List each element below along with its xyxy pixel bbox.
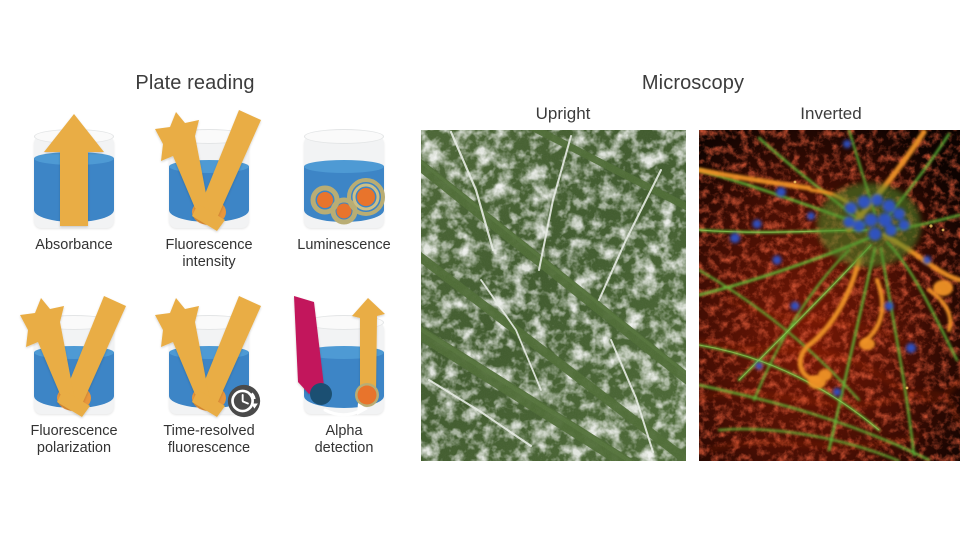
leaf-venation-image — [421, 130, 686, 461]
assay-alpha-detection[interactable]: Alpha detection — [278, 294, 410, 469]
clock-icon — [225, 382, 263, 420]
assay-label-fluorescence-intensity: Fluorescence intensity — [137, 237, 281, 271]
label-line: Fluorescence — [2, 423, 146, 440]
fluorescence-intensity-icon — [143, 108, 275, 236]
plate-reading-grid: Absorbance — [0, 108, 412, 468]
donor-bead-icon — [310, 383, 332, 405]
acceptor-bead-icon — [358, 386, 377, 405]
micrograph-inverted[interactable] — [699, 130, 960, 461]
assay-fluorescence-intensity[interactable]: Fluorescence intensity — [143, 108, 275, 283]
assay-time-resolved-fluorescence[interactable]: Time-resolved fluorescence — [143, 294, 275, 469]
up-arrow-icon — [8, 108, 140, 236]
microscopy-panel-label-upright: Upright — [448, 104, 678, 124]
label-line: Fluorescence — [137, 237, 281, 254]
fluorescence-polarization-icon — [8, 294, 140, 422]
assay-label-time-resolved-fluorescence: Time-resolved fluorescence — [137, 423, 281, 457]
assay-absorbance[interactable]: Absorbance — [8, 108, 140, 283]
fluorescent-neuron-image — [699, 130, 960, 461]
microscopy-title: Microscopy — [580, 72, 806, 95]
figure-canvas: Plate reading — [0, 0, 960, 540]
absorbance-icon — [8, 108, 140, 236]
plate-reading-title: Plate reading — [80, 72, 310, 95]
assay-label-fluorescence-polarization: Fluorescence polarization — [2, 423, 146, 457]
assay-luminescence[interactable]: Luminescence — [278, 108, 410, 283]
label-line: detection — [272, 440, 416, 457]
v-arrows-icon — [143, 108, 275, 236]
luminescence-icon — [278, 108, 410, 236]
polarized-v-arrows-icon — [8, 294, 140, 422]
donor-acceptor-beads-icon — [278, 294, 410, 422]
micrograph-upright[interactable] — [421, 130, 686, 461]
label-line: polarization — [2, 440, 146, 457]
label-line: fluorescence — [137, 440, 281, 457]
assay-label-absorbance: Absorbance — [2, 237, 146, 254]
label-line: Alpha — [272, 423, 416, 440]
label-line: Luminescence — [272, 237, 416, 254]
assay-label-luminescence: Luminescence — [272, 237, 416, 254]
time-resolved-fluorescence-icon — [143, 294, 275, 422]
alpha-detection-icon — [278, 294, 410, 422]
label-line: Absorbance — [2, 237, 146, 254]
label-line: intensity — [137, 254, 281, 271]
microscopy-panel-label-inverted: Inverted — [716, 104, 946, 124]
assay-fluorescence-polarization[interactable]: Fluorescence polarization — [8, 294, 140, 469]
label-line: Time-resolved — [137, 423, 281, 440]
glowing-beads-icon — [278, 108, 410, 236]
assay-label-alpha-detection: Alpha detection — [272, 423, 416, 457]
